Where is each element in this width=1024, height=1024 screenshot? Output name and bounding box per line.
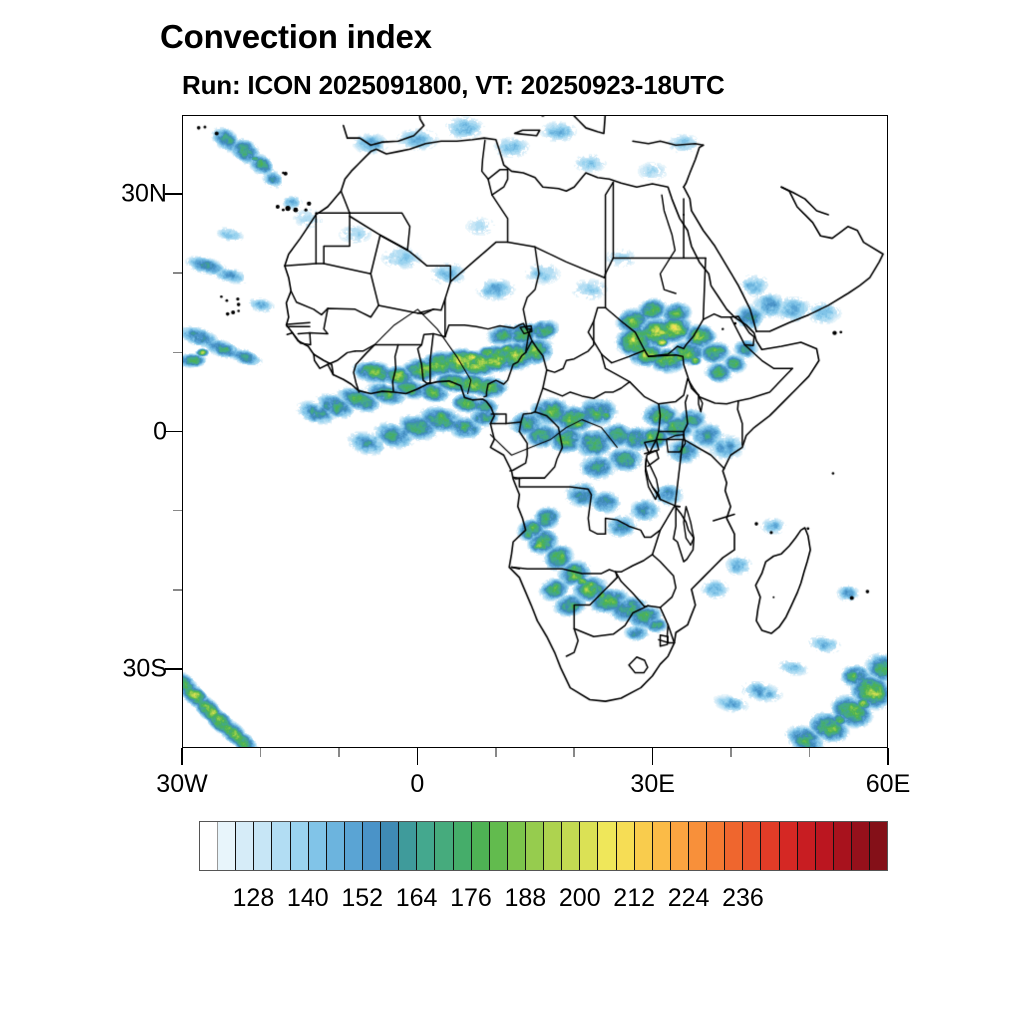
run-valid-time: Run: ICON 2025091800, VT: 20250923-18UTC (182, 70, 725, 101)
y-axis-label-0: 0 (95, 417, 167, 446)
colorbar-tick-164: 164 (396, 884, 438, 913)
colorbar-cell-35 (834, 822, 852, 870)
y-axis-label-30N: 30N (95, 180, 167, 209)
colorbar-tick-200: 200 (559, 884, 601, 913)
colorbar-tick-176: 176 (450, 884, 492, 913)
colorbar-cell-33 (798, 822, 816, 870)
x-tick-major (887, 748, 889, 765)
colorbar-tick-236: 236 (722, 884, 764, 913)
colorbar-cell-10 (381, 822, 399, 870)
x-axis-label-30W: 30W (156, 770, 207, 799)
colorbar-cell-5 (291, 822, 309, 870)
colorbar-tick-128: 128 (233, 884, 275, 913)
map-plot-area[interactable] (182, 115, 888, 748)
colorbar-tick-140: 140 (287, 884, 329, 913)
convection-index-map (183, 116, 887, 747)
x-tick-major (417, 748, 419, 765)
page-title: Convection index (160, 18, 432, 56)
x-axis-label-30E: 30E (630, 770, 674, 799)
colorbar-cell-30 (743, 822, 761, 870)
colorbar-cell-15 (472, 822, 490, 870)
colorbar-cell-9 (363, 822, 381, 870)
colorbar-cell-8 (345, 822, 363, 870)
x-tick-minor (809, 748, 811, 757)
colorbar-tick-224: 224 (668, 884, 710, 913)
colorbar-cell-4 (272, 822, 290, 870)
colorbar-cell-12 (417, 822, 435, 870)
colorbar-cell-20 (562, 822, 580, 870)
colorbar-cell-25 (653, 822, 671, 870)
colorbar-cell-14 (454, 822, 472, 870)
x-tick-minor (573, 748, 575, 757)
colorbar-cell-29 (725, 822, 743, 870)
colorbar-cell-3 (254, 822, 272, 870)
y-tick-minor (173, 352, 182, 354)
colorbar-cell-11 (399, 822, 417, 870)
colorbar-cell-37 (870, 822, 887, 870)
colorbar-cell-21 (580, 822, 598, 870)
colorbar-cell-31 (761, 822, 779, 870)
y-tick-major (165, 193, 182, 195)
colorbar-cell-0 (200, 822, 218, 870)
x-axis-label-0: 0 (410, 770, 424, 799)
colorbar[interactable] (199, 821, 888, 871)
colorbar-cell-13 (435, 822, 453, 870)
x-tick-major (652, 748, 654, 765)
colorbar-cell-1 (218, 822, 236, 870)
colorbar-cell-26 (671, 822, 689, 870)
colorbar-tick-152: 152 (341, 884, 383, 913)
colorbar-cell-36 (852, 822, 870, 870)
x-tick-minor (338, 748, 340, 757)
colorbar-cell-2 (236, 822, 254, 870)
x-tick-minor (730, 748, 732, 757)
colorbar-tick-212: 212 (613, 884, 655, 913)
colorbar-cell-18 (526, 822, 544, 870)
y-tick-major (165, 431, 182, 433)
colorbar-cell-19 (544, 822, 562, 870)
colorbar-cell-27 (689, 822, 707, 870)
colorbar-cell-17 (508, 822, 526, 870)
colorbar-cell-34 (816, 822, 834, 870)
y-tick-minor (173, 510, 182, 512)
x-tick-minor (260, 748, 262, 757)
x-axis-label-60E: 60E (866, 770, 910, 799)
colorbar-cell-24 (635, 822, 653, 870)
y-axis-label-30S: 30S (95, 654, 167, 683)
colorbar-cell-28 (707, 822, 725, 870)
colorbar-cell-7 (327, 822, 345, 870)
x-tick-minor (495, 748, 497, 757)
y-tick-major (165, 668, 182, 670)
colorbar-tick-188: 188 (505, 884, 547, 913)
y-tick-minor (173, 272, 182, 274)
y-tick-minor (173, 589, 182, 591)
colorbar-cell-32 (780, 822, 798, 870)
colorbar-cell-16 (490, 822, 508, 870)
x-tick-major (181, 748, 183, 765)
colorbar-cell-23 (617, 822, 635, 870)
colorbar-cell-22 (598, 822, 616, 870)
colorbar-cell-6 (309, 822, 327, 870)
